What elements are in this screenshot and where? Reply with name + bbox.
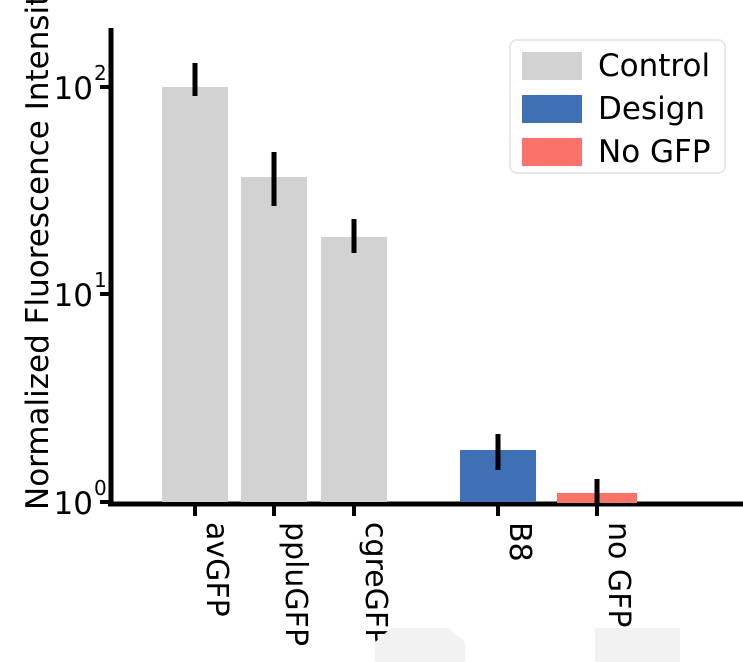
legend-swatch-control[interactable] — [522, 52, 582, 80]
x-tick-label-pplugfp: ppluGFP — [278, 522, 313, 646]
legend-swatch-no-gfp[interactable] — [522, 138, 582, 166]
y-tick-label-base: 10 — [54, 71, 93, 107]
y-tick-label-exponent: 0 — [94, 476, 107, 500]
x-tick-label-no-gfp: no GFP — [601, 522, 636, 628]
legend-label-design: Design — [598, 91, 705, 127]
chart-canvas: 10 2 10 1 10 0 Normalized Fluorescence I… — [0, 0, 743, 662]
watermark-shape-left — [375, 628, 465, 662]
y-tick-label-exponent: 1 — [94, 268, 107, 292]
y-tick-label-base: 10 — [54, 278, 93, 314]
watermark-shape-right — [595, 628, 680, 662]
x-tick-label-b8: B8 — [502, 522, 537, 562]
x-tick-label-cgregfp: cgreGFP — [358, 522, 393, 646]
y-axis-title: Normalized Fluorescence Intensity — [20, 0, 56, 510]
y-tick-label-base: 10 — [54, 486, 93, 522]
legend-label-control: Control — [598, 48, 710, 84]
y-tick-label-exponent: 2 — [94, 61, 107, 85]
bar-avgfp — [162, 87, 228, 502]
legend-label-no-gfp: No GFP — [598, 134, 711, 170]
bar-cgregfp — [321, 237, 387, 502]
bar-chart-figure: 10 2 10 1 10 0 Normalized Fluorescence I… — [0, 0, 743, 662]
legend-swatch-design[interactable] — [522, 95, 582, 123]
bar-pplugfp — [241, 177, 307, 502]
x-tick-label-avgfp: avGFP — [199, 522, 234, 617]
legend: Control Design No GFP — [510, 40, 725, 173]
